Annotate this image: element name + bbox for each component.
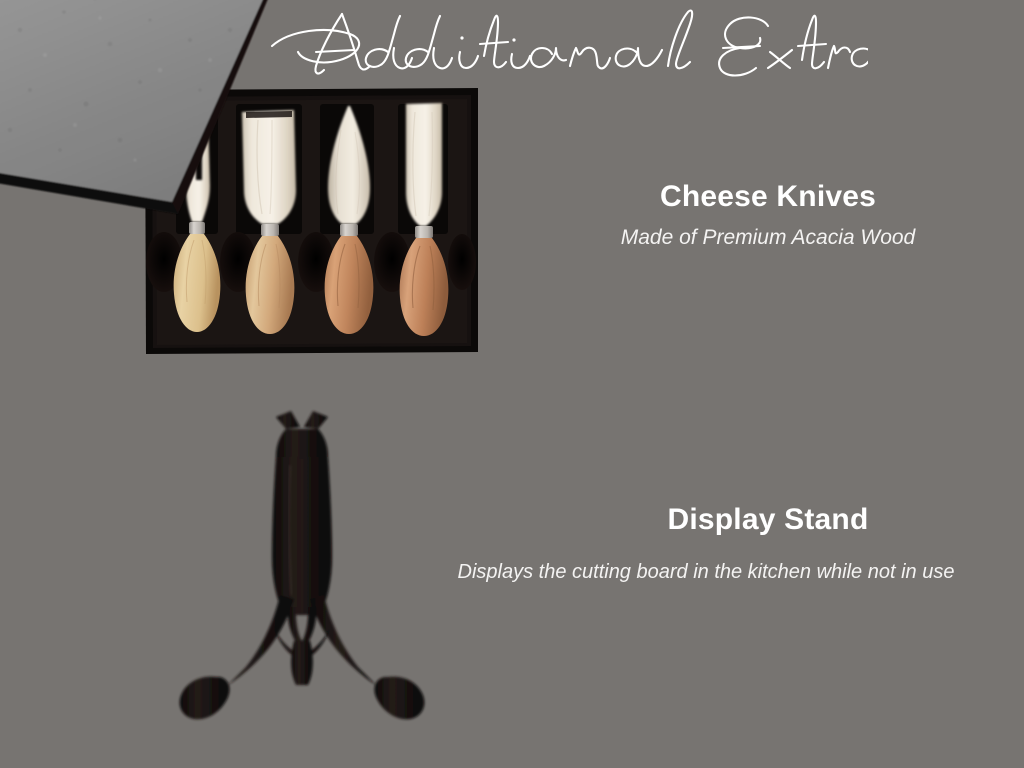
display-stand-heading: Display Stand (512, 503, 1024, 537)
poster-canvas: Cheese Knives Made of Premium Acacia Woo… (0, 0, 1024, 768)
cheese-knives-subheading: Made of Premium Acacia Wood (512, 226, 1024, 250)
display-stand-subheading: Displays the cutting board in the kitche… (388, 561, 1024, 584)
cheese-knives-heading: Cheese Knives (512, 180, 1024, 214)
cheese-knives-image (0, 0, 500, 380)
